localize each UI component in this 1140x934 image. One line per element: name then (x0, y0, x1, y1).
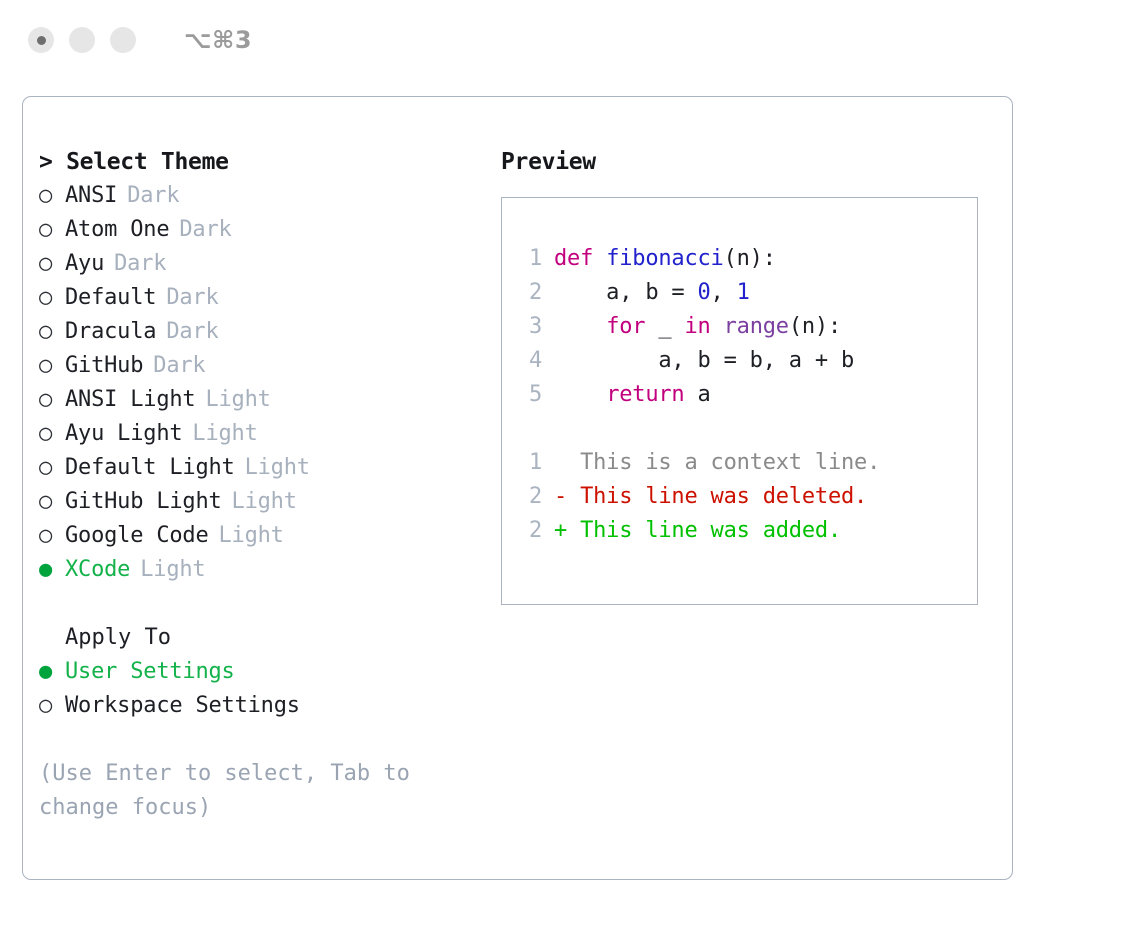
select-theme-heading: > Select Theme (39, 145, 489, 179)
code-line: 5 return a (520, 378, 977, 412)
code-token: return (606, 382, 684, 407)
theme-option-label: ANSI (65, 179, 117, 213)
line-number: 5 (520, 378, 542, 412)
radio-unselected-icon: ○ (39, 213, 65, 247)
line-number: 2 (520, 276, 542, 310)
theme-option-ayu-light[interactable]: ○Ayu LightLight (39, 417, 489, 451)
theme-option-dracula[interactable]: ○DraculaDark (39, 315, 489, 349)
code-line: 2 a, b = 0, 1 (520, 276, 977, 310)
apply-to-option-label: Workspace Settings (65, 689, 300, 723)
line-number: 2 (520, 480, 542, 514)
theme-option-label: GitHub Light (65, 485, 222, 519)
code-line: 3 for _ in range(n): (520, 310, 977, 344)
code-token: range (724, 314, 789, 339)
theme-option-default-light[interactable]: ○Default LightLight (39, 451, 489, 485)
code-token: a, b = b, a + b (554, 348, 854, 373)
theme-option-ayu[interactable]: ○AyuDark (39, 247, 489, 281)
code-token: fibonacci (606, 246, 723, 271)
line-number: 3 (520, 310, 542, 344)
radio-unselected-icon: ○ (39, 417, 65, 451)
theme-variant-label: Dark (127, 179, 179, 213)
code-diff-spacer (520, 412, 977, 446)
apply-to-heading: Apply To (39, 621, 489, 655)
code-token: 1 (737, 280, 750, 305)
theme-option-github-light[interactable]: ○GitHub LightLight (39, 485, 489, 519)
theme-variant-label: Dark (166, 281, 218, 315)
radio-selected-icon: ● (39, 655, 65, 689)
window-minimize-dot[interactable] (69, 27, 95, 53)
radio-selected-icon: ● (39, 553, 65, 587)
code-token: (n): (789, 314, 841, 339)
diff-line-text: This is a context line. (554, 450, 880, 475)
theme-option-label: GitHub (65, 349, 143, 383)
code-line: 4 a, b = b, a + b (520, 344, 977, 378)
theme-option-default[interactable]: ○DefaultDark (39, 281, 489, 315)
theme-option-label: Default Light (65, 451, 235, 485)
radio-unselected-icon: ○ (39, 383, 65, 417)
theme-option-label: XCode (65, 553, 130, 587)
theme-option-label: Default (65, 281, 156, 315)
theme-option-label: Ayu Light (65, 417, 182, 451)
theme-variant-label: Light (232, 485, 297, 519)
theme-option-label: Dracula (65, 315, 156, 349)
code-token: a (684, 382, 710, 407)
code-token: _ (645, 314, 684, 339)
code-token: 0 (698, 280, 711, 305)
theme-variant-label: Light (219, 519, 284, 553)
radio-unselected-icon: ○ (39, 281, 65, 315)
radio-unselected-icon: ○ (39, 315, 65, 349)
theme-variant-label: Dark (166, 315, 218, 349)
theme-option-ansi-light[interactable]: ○ANSI LightLight (39, 383, 489, 417)
theme-option-label: ANSI Light (65, 383, 195, 417)
radio-unselected-icon: ○ (39, 485, 65, 519)
app-window: ⌥⌘3 > Select Theme ○ANSIDark○Atom OneDar… (0, 0, 1140, 934)
theme-variant-label: Dark (179, 213, 231, 247)
theme-variant-label: Light (192, 417, 257, 451)
main-panel: > Select Theme ○ANSIDark○Atom OneDark○Ay… (22, 96, 1013, 880)
theme-variant-label: Light (140, 553, 205, 587)
keyboard-shortcut-label: ⌥⌘3 (184, 26, 252, 54)
theme-option-label: Atom One (65, 213, 169, 247)
radio-unselected-icon: ○ (39, 519, 65, 553)
keyboard-hint-text: (Use Enter to select, Tab to change focu… (39, 757, 459, 825)
code-token (554, 314, 606, 339)
theme-option-google-code[interactable]: ○Google CodeLight (39, 519, 489, 553)
theme-option-github[interactable]: ○GitHubDark (39, 349, 489, 383)
line-number: 2 (520, 514, 542, 548)
apply-to-option-workspace-settings[interactable]: ○Workspace Settings (39, 689, 489, 723)
code-token (711, 314, 724, 339)
diff-sample: 1 This is a context line.2- This line wa… (520, 446, 977, 548)
radio-unselected-icon: ○ (39, 451, 65, 485)
section-spacer (39, 587, 489, 621)
code-token: in (684, 314, 710, 339)
radio-unselected-icon: ○ (39, 349, 65, 383)
code-token: a, b = (554, 280, 698, 305)
window-close-dot[interactable] (28, 27, 54, 53)
theme-variant-label: Light (245, 451, 310, 485)
code-token (554, 382, 606, 407)
radio-unselected-icon: ○ (39, 689, 65, 723)
diff-line-text: - This line was deleted. (554, 484, 867, 509)
preview-heading: Preview (501, 145, 1012, 179)
code-sample: 1def fibonacci(n):2 a, b = 0, 13 for _ i… (520, 242, 977, 412)
radio-unselected-icon: ○ (39, 247, 65, 281)
line-number: 1 (520, 446, 542, 480)
apply-to-option-list: ●User Settings○Workspace Settings (39, 655, 489, 723)
apply-to-option-label: User Settings (65, 655, 235, 689)
theme-option-atom-one[interactable]: ○Atom OneDark (39, 213, 489, 247)
title-bar: ⌥⌘3 (0, 0, 1140, 80)
theme-variant-label: Light (205, 383, 270, 417)
code-token: def (554, 246, 593, 271)
diff-line-text: + This line was added. (554, 518, 841, 543)
window-maximize-dot[interactable] (110, 27, 136, 53)
line-number: 1 (520, 242, 542, 276)
preview-box: 1def fibonacci(n):2 a, b = 0, 13 for _ i… (501, 197, 978, 605)
line-number: 4 (520, 344, 542, 378)
apply-to-option-user-settings[interactable]: ●User Settings (39, 655, 489, 689)
theme-option-label: Ayu (65, 247, 104, 281)
theme-variant-label: Dark (153, 349, 205, 383)
theme-option-ansi[interactable]: ○ANSIDark (39, 179, 489, 213)
code-token (593, 246, 606, 271)
window-dot-inner-icon (37, 36, 46, 45)
theme-option-label: Google Code (65, 519, 209, 553)
diff-line-add: 2+ This line was added. (520, 514, 977, 548)
theme-picker-column: > Select Theme ○ANSIDark○Atom OneDark○Ay… (23, 97, 489, 879)
code-token: , (711, 280, 737, 305)
code-token: (n): (724, 246, 776, 271)
theme-variant-label: Dark (114, 247, 166, 281)
code-line: 1def fibonacci(n): (520, 242, 977, 276)
radio-unselected-icon: ○ (39, 179, 65, 213)
code-token: for (606, 314, 645, 339)
diff-line-ctx: 1 This is a context line. (520, 446, 977, 480)
preview-column: Preview 1def fibonacci(n):2 a, b = 0, 13… (489, 97, 1012, 879)
diff-line-del: 2- This line was deleted. (520, 480, 977, 514)
theme-option-xcode[interactable]: ●XCodeLight (39, 553, 489, 587)
theme-option-list: ○ANSIDark○Atom OneDark○AyuDark○DefaultDa… (39, 179, 489, 587)
